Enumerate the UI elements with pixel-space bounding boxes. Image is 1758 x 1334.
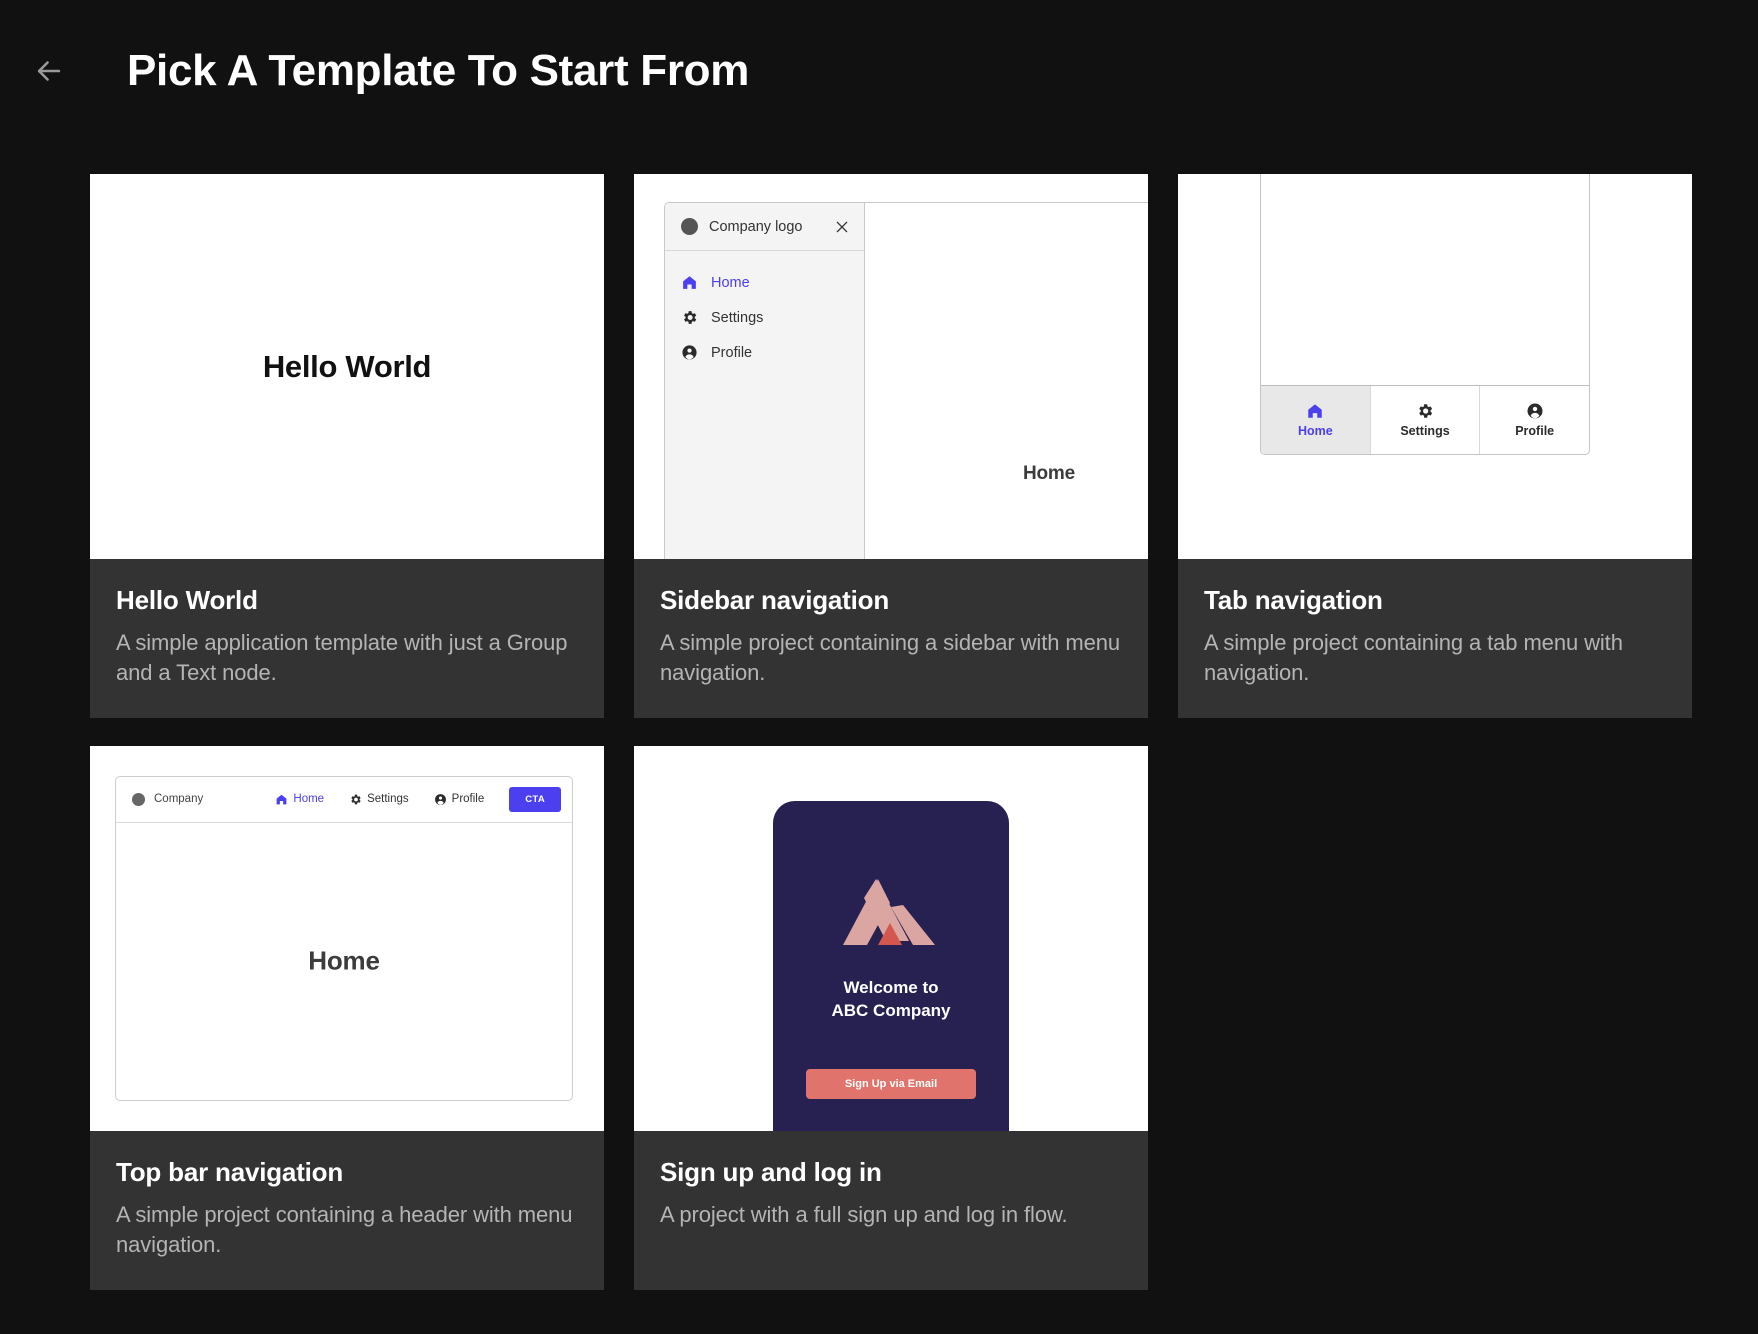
card-description: A project with a full sign up and log in… — [660, 1200, 1122, 1230]
top-bar-link-label: Profile — [452, 793, 485, 805]
top-bar-content-area: Home — [116, 823, 572, 1100]
home-icon — [275, 793, 288, 806]
gear-icon — [1416, 402, 1434, 420]
tab-bar: Home Settings Profil — [1261, 385, 1589, 454]
template-card-hello-world[interactable]: Hello World Hello World A simple applica… — [90, 174, 604, 718]
home-icon — [1306, 402, 1324, 420]
card-title: Sidebar navigation — [660, 585, 1122, 616]
template-card-top-bar-navigation[interactable]: Company Home Settings — [90, 746, 604, 1290]
sidebar-item-label: Profile — [711, 345, 752, 361]
card-title: Tab navigation — [1204, 585, 1666, 616]
card-description: A simple project containing a tab menu w… — [1204, 628, 1666, 688]
template-card-sign-up-and-log-in[interactable]: Welcome to ABC Company Sign Up via Email… — [634, 746, 1148, 1290]
card-body: Top bar navigation A simple project cont… — [90, 1131, 604, 1290]
card-body: Tab navigation A simple project containi… — [1178, 559, 1692, 718]
welcome-line-2: ABC Company — [831, 1000, 950, 1023]
back-arrow-icon — [32, 54, 66, 88]
tab-profile[interactable]: Profile — [1480, 386, 1589, 454]
tab-label: Settings — [1400, 424, 1449, 438]
top-bar-content-text: Home — [308, 946, 379, 977]
signup-phone-mockup: Welcome to ABC Company Sign Up via Email — [773, 801, 1009, 1131]
tab-content-area — [1261, 174, 1589, 385]
home-icon — [681, 274, 698, 291]
template-grid: Hello World Hello World A simple applica… — [0, 112, 1758, 1290]
tab-label: Home — [1298, 424, 1333, 438]
card-title: Sign up and log in — [660, 1157, 1122, 1188]
template-card-sidebar-navigation[interactable]: Company logo Home — [634, 174, 1148, 718]
sidebar-item-home[interactable]: Home — [665, 265, 864, 300]
card-description: A simple application template with just … — [116, 628, 578, 688]
card-body: Sidebar navigation A simple project cont… — [634, 559, 1148, 718]
welcome-line-1: Welcome to — [831, 977, 950, 1000]
template-card-tab-navigation[interactable]: Home Settings Profil — [1178, 174, 1692, 718]
sidebar-content-text: Home — [1023, 463, 1075, 485]
sidebar-item-label: Home — [711, 275, 750, 291]
person-icon — [1526, 402, 1544, 420]
preview-tab-navigation: Home Settings Profil — [1178, 174, 1692, 559]
hello-world-text: Hello World — [263, 349, 431, 385]
company-logo-label: Company logo — [709, 219, 823, 235]
triangle-logo-icon — [843, 879, 939, 955]
company-label: Company — [154, 793, 203, 805]
card-body: Sign up and log in A project with a full… — [634, 1131, 1148, 1260]
card-title: Hello World — [116, 585, 578, 616]
sidebar-mockup: Company logo Home — [664, 202, 1148, 559]
company-logo-icon — [681, 218, 698, 235]
top-bar-link-label: Home — [293, 793, 324, 805]
tab-label: Profile — [1515, 424, 1554, 438]
page-title: Pick A Template To Start From — [127, 46, 749, 96]
sidebar-item-label: Settings — [711, 310, 763, 326]
page-header: Pick A Template To Start From — [0, 0, 1758, 112]
sidebar-item-settings[interactable]: Settings — [665, 300, 864, 335]
cta-button[interactable]: CTA — [509, 787, 561, 812]
sidebar-header: Company logo — [665, 203, 864, 251]
tab-home[interactable]: Home — [1261, 386, 1371, 454]
sidebar-panel: Company logo Home — [665, 203, 865, 559]
preview-sidebar-navigation: Company logo Home — [634, 174, 1148, 559]
preview-sign-up: Welcome to ABC Company Sign Up via Email — [634, 746, 1148, 1131]
person-icon — [681, 344, 698, 361]
close-icon[interactable] — [834, 219, 850, 235]
top-bar-link-profile[interactable]: Profile — [434, 793, 485, 806]
top-bar-link-label: Settings — [367, 793, 409, 805]
card-description: A simple project containing a header wit… — [116, 1200, 578, 1260]
sidebar-content-area: Home — [865, 203, 1148, 559]
card-body: Hello World A simple application templat… — [90, 559, 604, 718]
signup-welcome-text: Welcome to ABC Company — [831, 977, 950, 1023]
sign-up-via-email-button[interactable]: Sign Up via Email — [806, 1069, 976, 1099]
preview-hello-world: Hello World — [90, 174, 604, 559]
top-bar-link-settings[interactable]: Settings — [349, 793, 409, 806]
sidebar-menu: Home Settings — [665, 251, 864, 370]
back-button[interactable] — [26, 48, 72, 94]
abc-company-logo — [843, 879, 939, 955]
hello-world-canvas: Hello World — [90, 174, 604, 559]
preview-top-bar-navigation: Company Home Settings — [90, 746, 604, 1131]
card-title: Top bar navigation — [116, 1157, 578, 1188]
top-bar-link-home[interactable]: Home — [275, 793, 324, 806]
top-bar-header: Company Home Settings — [116, 777, 572, 823]
company-logo-icon — [132, 793, 145, 806]
card-description: A simple project containing a sidebar wi… — [660, 628, 1122, 688]
gear-icon — [681, 309, 698, 326]
tab-settings[interactable]: Settings — [1371, 386, 1481, 454]
sidebar-item-profile[interactable]: Profile — [665, 335, 864, 370]
gear-icon — [349, 793, 362, 806]
tab-mockup: Home Settings Profil — [1260, 174, 1590, 455]
person-icon — [434, 793, 447, 806]
top-bar-mockup: Company Home Settings — [115, 776, 573, 1101]
